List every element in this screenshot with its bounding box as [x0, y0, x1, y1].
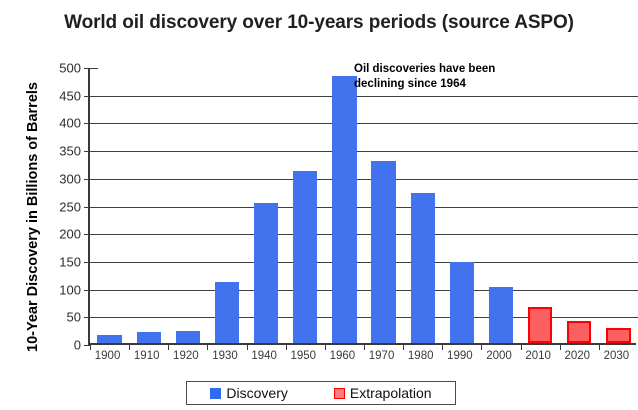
bars-layer: [90, 66, 638, 343]
x-tick-label: 1980: [408, 350, 434, 362]
x-tick-mark: [247, 343, 248, 350]
y-tick-label: 150: [59, 254, 81, 269]
x-tick-label: 1910: [134, 350, 160, 362]
x-tick-mark: [521, 343, 522, 350]
bar-discovery-1910[interactable]: [137, 332, 161, 343]
x-tick-mark: [168, 343, 169, 350]
x-tick-mark: [481, 343, 482, 350]
y-tick-label: 50: [67, 310, 81, 325]
chart-container: World oil discovery over 10-years period…: [0, 0, 638, 410]
plot-area: 050100150200250300350400450500: [88, 68, 636, 345]
x-tick-mark: [325, 343, 326, 350]
bar-discovery-1900[interactable]: [97, 335, 121, 343]
x-tick-label: 2000: [486, 350, 512, 362]
x-tick-mark: [90, 343, 91, 350]
x-tick-label: 1900: [95, 350, 121, 362]
x-tick-label: 2010: [525, 350, 551, 362]
x-tick-mark: [364, 343, 365, 350]
x-tick-mark: [207, 343, 208, 350]
x-tick-mark: [286, 343, 287, 350]
chart-title: World oil discovery over 10-years period…: [0, 12, 638, 34]
bar-discovery-1920[interactable]: [176, 331, 200, 343]
bar-discovery-1930[interactable]: [215, 282, 239, 343]
x-tick-label: 2020: [564, 350, 590, 362]
bar-discovery-1980[interactable]: [411, 193, 435, 343]
bar-discovery-1960[interactable]: [332, 76, 356, 343]
y-tick-label: 300: [59, 171, 81, 186]
bar-discovery-1990[interactable]: [450, 262, 474, 343]
y-tick-label: 250: [59, 199, 81, 214]
x-tick-mark: [403, 343, 404, 350]
chart-legend: Discovery Extrapolation: [186, 381, 456, 405]
bar-discovery-1950[interactable]: [293, 171, 317, 343]
x-tick-mark: [129, 343, 130, 350]
x-tick-label: 2030: [604, 350, 630, 362]
y-tick-label: 500: [59, 61, 81, 76]
x-tick-label: 1990: [447, 350, 473, 362]
bar-discovery-1970[interactable]: [371, 161, 395, 343]
x-tick-label: 1960: [330, 350, 356, 362]
y-tick-label: 200: [59, 227, 81, 242]
legend-item-extrapolation[interactable]: Extrapolation: [334, 385, 432, 401]
x-tick-label: 1970: [369, 350, 395, 362]
legend-label-extrapolation: Extrapolation: [350, 385, 432, 401]
x-tick-mark: [599, 343, 600, 350]
y-tick-label: 0: [74, 338, 81, 353]
x-tick-label: 1930: [212, 350, 238, 362]
y-axis-title: 10-Year Discovery in Billions of Barrels: [16, 72, 50, 362]
bar-extrapolation-2020[interactable]: [567, 321, 591, 343]
legend-swatch-extrapolation-icon: [334, 388, 345, 399]
legend-item-discovery[interactable]: Discovery: [210, 385, 287, 401]
x-tick-label: 1940: [251, 350, 277, 362]
bar-discovery-2000[interactable]: [489, 287, 513, 344]
chart-annotation: Oil discoveries have been declining sinc…: [354, 62, 495, 92]
y-tick-label: 400: [59, 116, 81, 131]
x-tick-mark: [560, 343, 561, 350]
x-tick-label: 1950: [290, 350, 316, 362]
y-tick-label: 350: [59, 144, 81, 159]
y-axis-title-text: 10-Year Discovery in Billions of Barrels: [25, 82, 42, 352]
legend-label-discovery: Discovery: [226, 385, 287, 401]
legend-swatch-discovery-icon: [210, 388, 221, 399]
y-tick-label: 100: [59, 282, 81, 297]
x-tick-mark: [442, 343, 443, 350]
bar-extrapolation-2030[interactable]: [606, 328, 630, 343]
bar-discovery-1940[interactable]: [254, 203, 278, 343]
bar-extrapolation-2010[interactable]: [528, 307, 552, 343]
x-tick-label: 1920: [173, 350, 199, 362]
y-tick-label: 450: [59, 88, 81, 103]
